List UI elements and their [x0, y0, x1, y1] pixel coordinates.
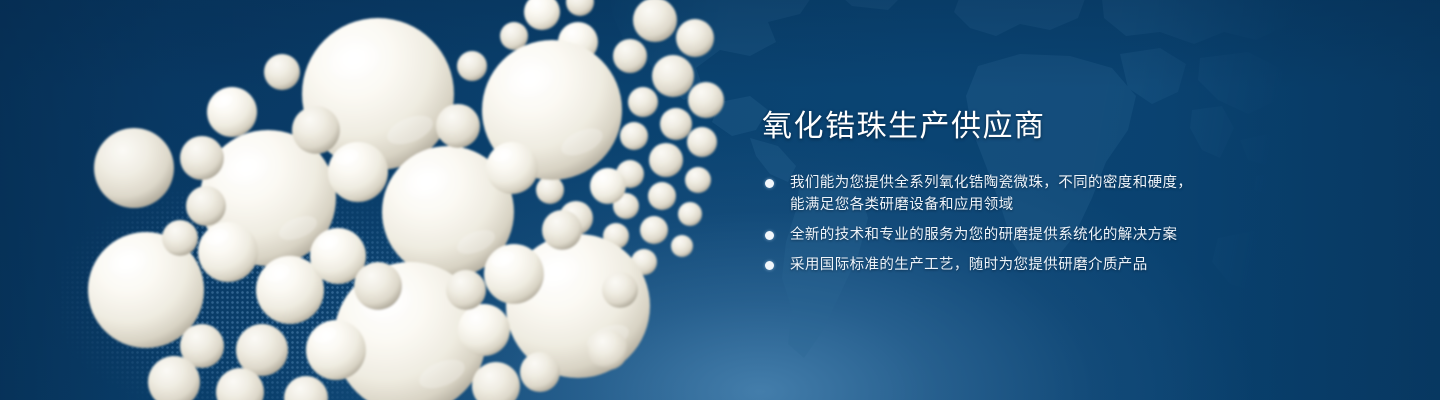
list-item: 我们能为您提供全系列氧化锆陶瓷微珠，不同的密度和硬度， 能满足您各类研磨设备和应…	[762, 172, 1382, 216]
bullet-text-line1: 全新的技术和专业的服务为您的研磨提供系统化的解决方案	[790, 227, 1177, 243]
list-item: 全新的技术和专业的服务为您的研磨提供系统化的解决方案	[762, 224, 1382, 246]
banner-copy: 氧化锆珠生产供应商 我们能为您提供全系列氧化锆陶瓷微珠，不同的密度和硬度， 能满…	[762, 108, 1382, 276]
bullet-text-line1: 采用国际标准的生产工艺，随时为您提供研磨介质产品	[790, 257, 1148, 273]
bullet-text-line1: 我们能为您提供全系列氧化锆陶瓷微珠，不同的密度和硬度，	[790, 175, 1192, 191]
bullet-text-line2: 能满足您各类研磨设备和应用领域	[790, 194, 1382, 216]
bullet-dot-icon	[765, 261, 774, 270]
page-title: 氧化锆珠生产供应商	[762, 108, 1382, 146]
hero-banner: 氧化锆珠生产供应商 我们能为您提供全系列氧化锆陶瓷微珠，不同的密度和硬度， 能满…	[0, 0, 1440, 400]
bullet-dot-icon	[765, 231, 774, 240]
list-item: 采用国际标准的生产工艺，随时为您提供研磨介质产品	[762, 254, 1382, 276]
bullet-dot-icon	[765, 179, 774, 188]
feature-list: 我们能为您提供全系列氧化锆陶瓷微珠，不同的密度和硬度， 能满足您各类研磨设备和应…	[762, 172, 1382, 276]
